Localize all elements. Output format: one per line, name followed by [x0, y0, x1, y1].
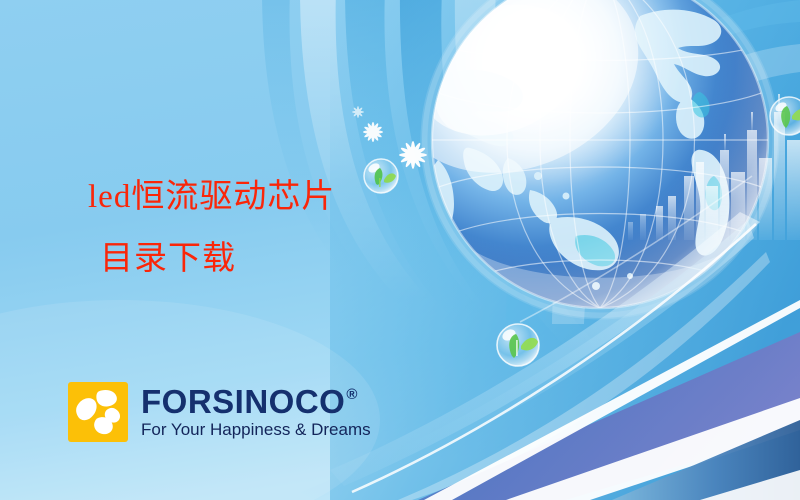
- company-logo: FORSINOCO ® For Your Happiness & Dreams: [68, 382, 371, 442]
- pinwheel-icon: [68, 382, 128, 442]
- bubble-sprout-right: [770, 97, 800, 135]
- logo-text-block: FORSINOCO ® For Your Happiness & Dreams: [141, 385, 371, 440]
- bubble-sprout-center: [497, 324, 539, 366]
- logo-wordmark-text: FORSINOCO: [141, 385, 345, 419]
- logo-wordmark: FORSINOCO ®: [141, 385, 371, 419]
- bubble-sprout-left: [364, 159, 398, 193]
- flower-sparkle-tiny: [352, 106, 364, 118]
- forsinoco-pinwheel-mark: [68, 382, 128, 442]
- slide-canvas: led恒流驱动芯片 目录下载 FORSINOCO ® For Your Happ…: [0, 0, 800, 500]
- logo-tagline: For Your Happiness & Dreams: [141, 420, 371, 440]
- registered-trademark-icon: ®: [346, 387, 358, 402]
